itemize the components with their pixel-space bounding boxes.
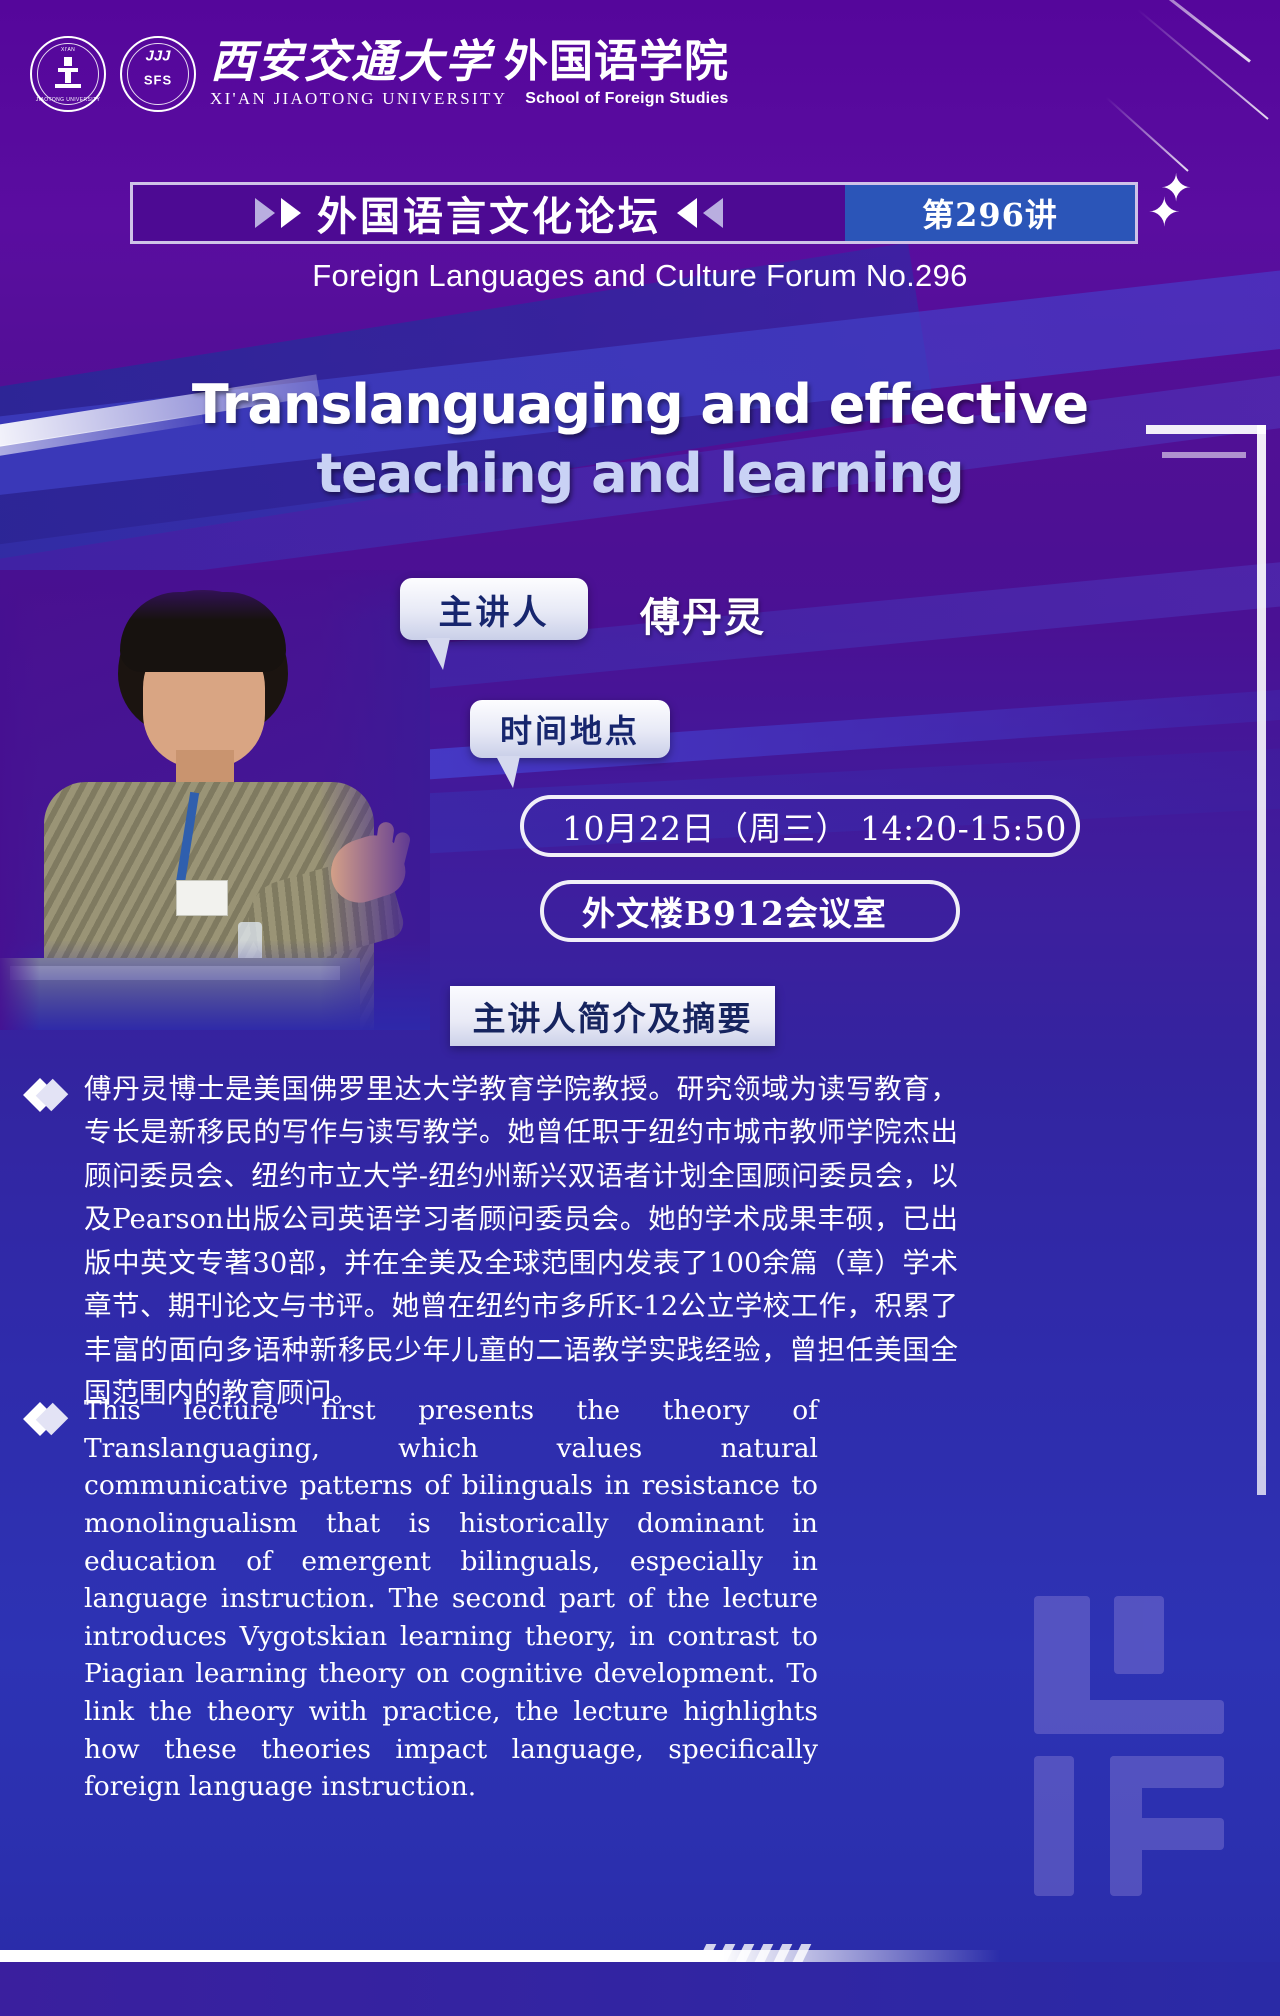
speaker-portrait-photo bbox=[0, 570, 430, 1030]
schedule-venue: 外文楼B912会议室 bbox=[582, 887, 887, 935]
arrow-left-dim-icon bbox=[703, 198, 723, 228]
abstract-text-en: This lecture first presents the theory o… bbox=[84, 1392, 818, 1806]
bio-text-cn: 傅丹灵博士是美国佛罗里达大学教育学院教授。研究领域为读写教育，专长是新移民的写作… bbox=[84, 1068, 958, 1416]
session-number-label: 第296讲 bbox=[922, 190, 1058, 236]
lecture-title-line2: teaching and learning bbox=[90, 439, 1190, 508]
lecture-title-line1: Translanguaging and effective bbox=[90, 370, 1190, 439]
university-crest-icon: XI'AN JIAOTONG UNIVERSITY bbox=[30, 36, 106, 112]
school-name-en: School of Foreign Studies bbox=[525, 90, 728, 108]
session-number-badge: 第296讲 ✦ bbox=[845, 185, 1135, 241]
crest-bottom-text: JIAOTONG UNIVERSITY bbox=[32, 97, 104, 103]
badge-star-icon: ✦ bbox=[1147, 190, 1181, 236]
abstract-paragraph: This lecture first presents the theory o… bbox=[28, 1392, 818, 1806]
sfs-crest-icon: JJJ SFS bbox=[120, 36, 196, 112]
speaker-name: 傅丹灵 bbox=[640, 585, 766, 643]
brand-header: XI'AN JIAOTONG UNIVERSITY JJJ SFS 西安交通大学… bbox=[30, 36, 729, 112]
arrow-left-bright-icon bbox=[677, 198, 697, 228]
school-name-cn: 外国语学院 bbox=[504, 40, 729, 84]
forum-title-cn: 外国语言文化论坛 bbox=[317, 184, 661, 242]
lecture-title: Translanguaging and effective teaching a… bbox=[90, 370, 1190, 508]
intro-heading-label: 主讲人简介及摘要 bbox=[473, 992, 753, 1040]
crest-top-text: XI'AN bbox=[32, 47, 104, 53]
sfs-mark: JJJ bbox=[122, 47, 194, 64]
speaker-label-callout: 主讲人 bbox=[400, 578, 588, 640]
intro-section-heading: 主讲人简介及摘要 bbox=[450, 986, 775, 1046]
diamond-bullet-icon bbox=[28, 1402, 62, 1436]
university-name-en: XI'AN JIAOTONG UNIVERSITY bbox=[210, 89, 507, 109]
schedule-datetime-pill: 10月22日（周三） 14:20-15:50 bbox=[520, 795, 1080, 857]
frame-edge-right-vertical bbox=[1257, 425, 1266, 1495]
arrow-right-dim-icon bbox=[255, 198, 275, 228]
schedule-venue-pill: 外文楼B912会议室 bbox=[540, 880, 960, 942]
schedule-label: 时间地点 bbox=[500, 706, 640, 752]
wordmark: 西安交通大学 外国语学院 XI'AN JIAOTONG UNIVERSITY S… bbox=[210, 39, 729, 109]
diamond-bullet-icon bbox=[28, 1078, 62, 1112]
university-name-cn: 西安交通大学 bbox=[210, 39, 492, 84]
bio-paragraph: 傅丹灵博士是美国佛罗里达大学教育学院教授。研究领域为读写教育，专长是新移民的写作… bbox=[28, 1068, 958, 1416]
bottom-bar bbox=[0, 1962, 1280, 2016]
arrow-right-bright-icon bbox=[281, 198, 301, 228]
speaker-label: 主讲人 bbox=[439, 585, 550, 634]
sfs-abbr: SFS bbox=[122, 72, 194, 87]
forum-title-en: Foreign Languages and Culture Forum No.2… bbox=[0, 258, 1280, 294]
schedule-datetime: 10月22日（周三） 14:20-15:50 bbox=[562, 802, 1067, 850]
forum-banner-left: 外国语言文化论坛 bbox=[133, 184, 845, 242]
crest-emblem bbox=[53, 57, 83, 91]
schedule-label-callout: 时间地点 bbox=[470, 700, 670, 758]
forum-banner: 外国语言文化论坛 第296讲 ✦ bbox=[130, 182, 1138, 244]
decorative-seal-glyph bbox=[1014, 1596, 1244, 1896]
